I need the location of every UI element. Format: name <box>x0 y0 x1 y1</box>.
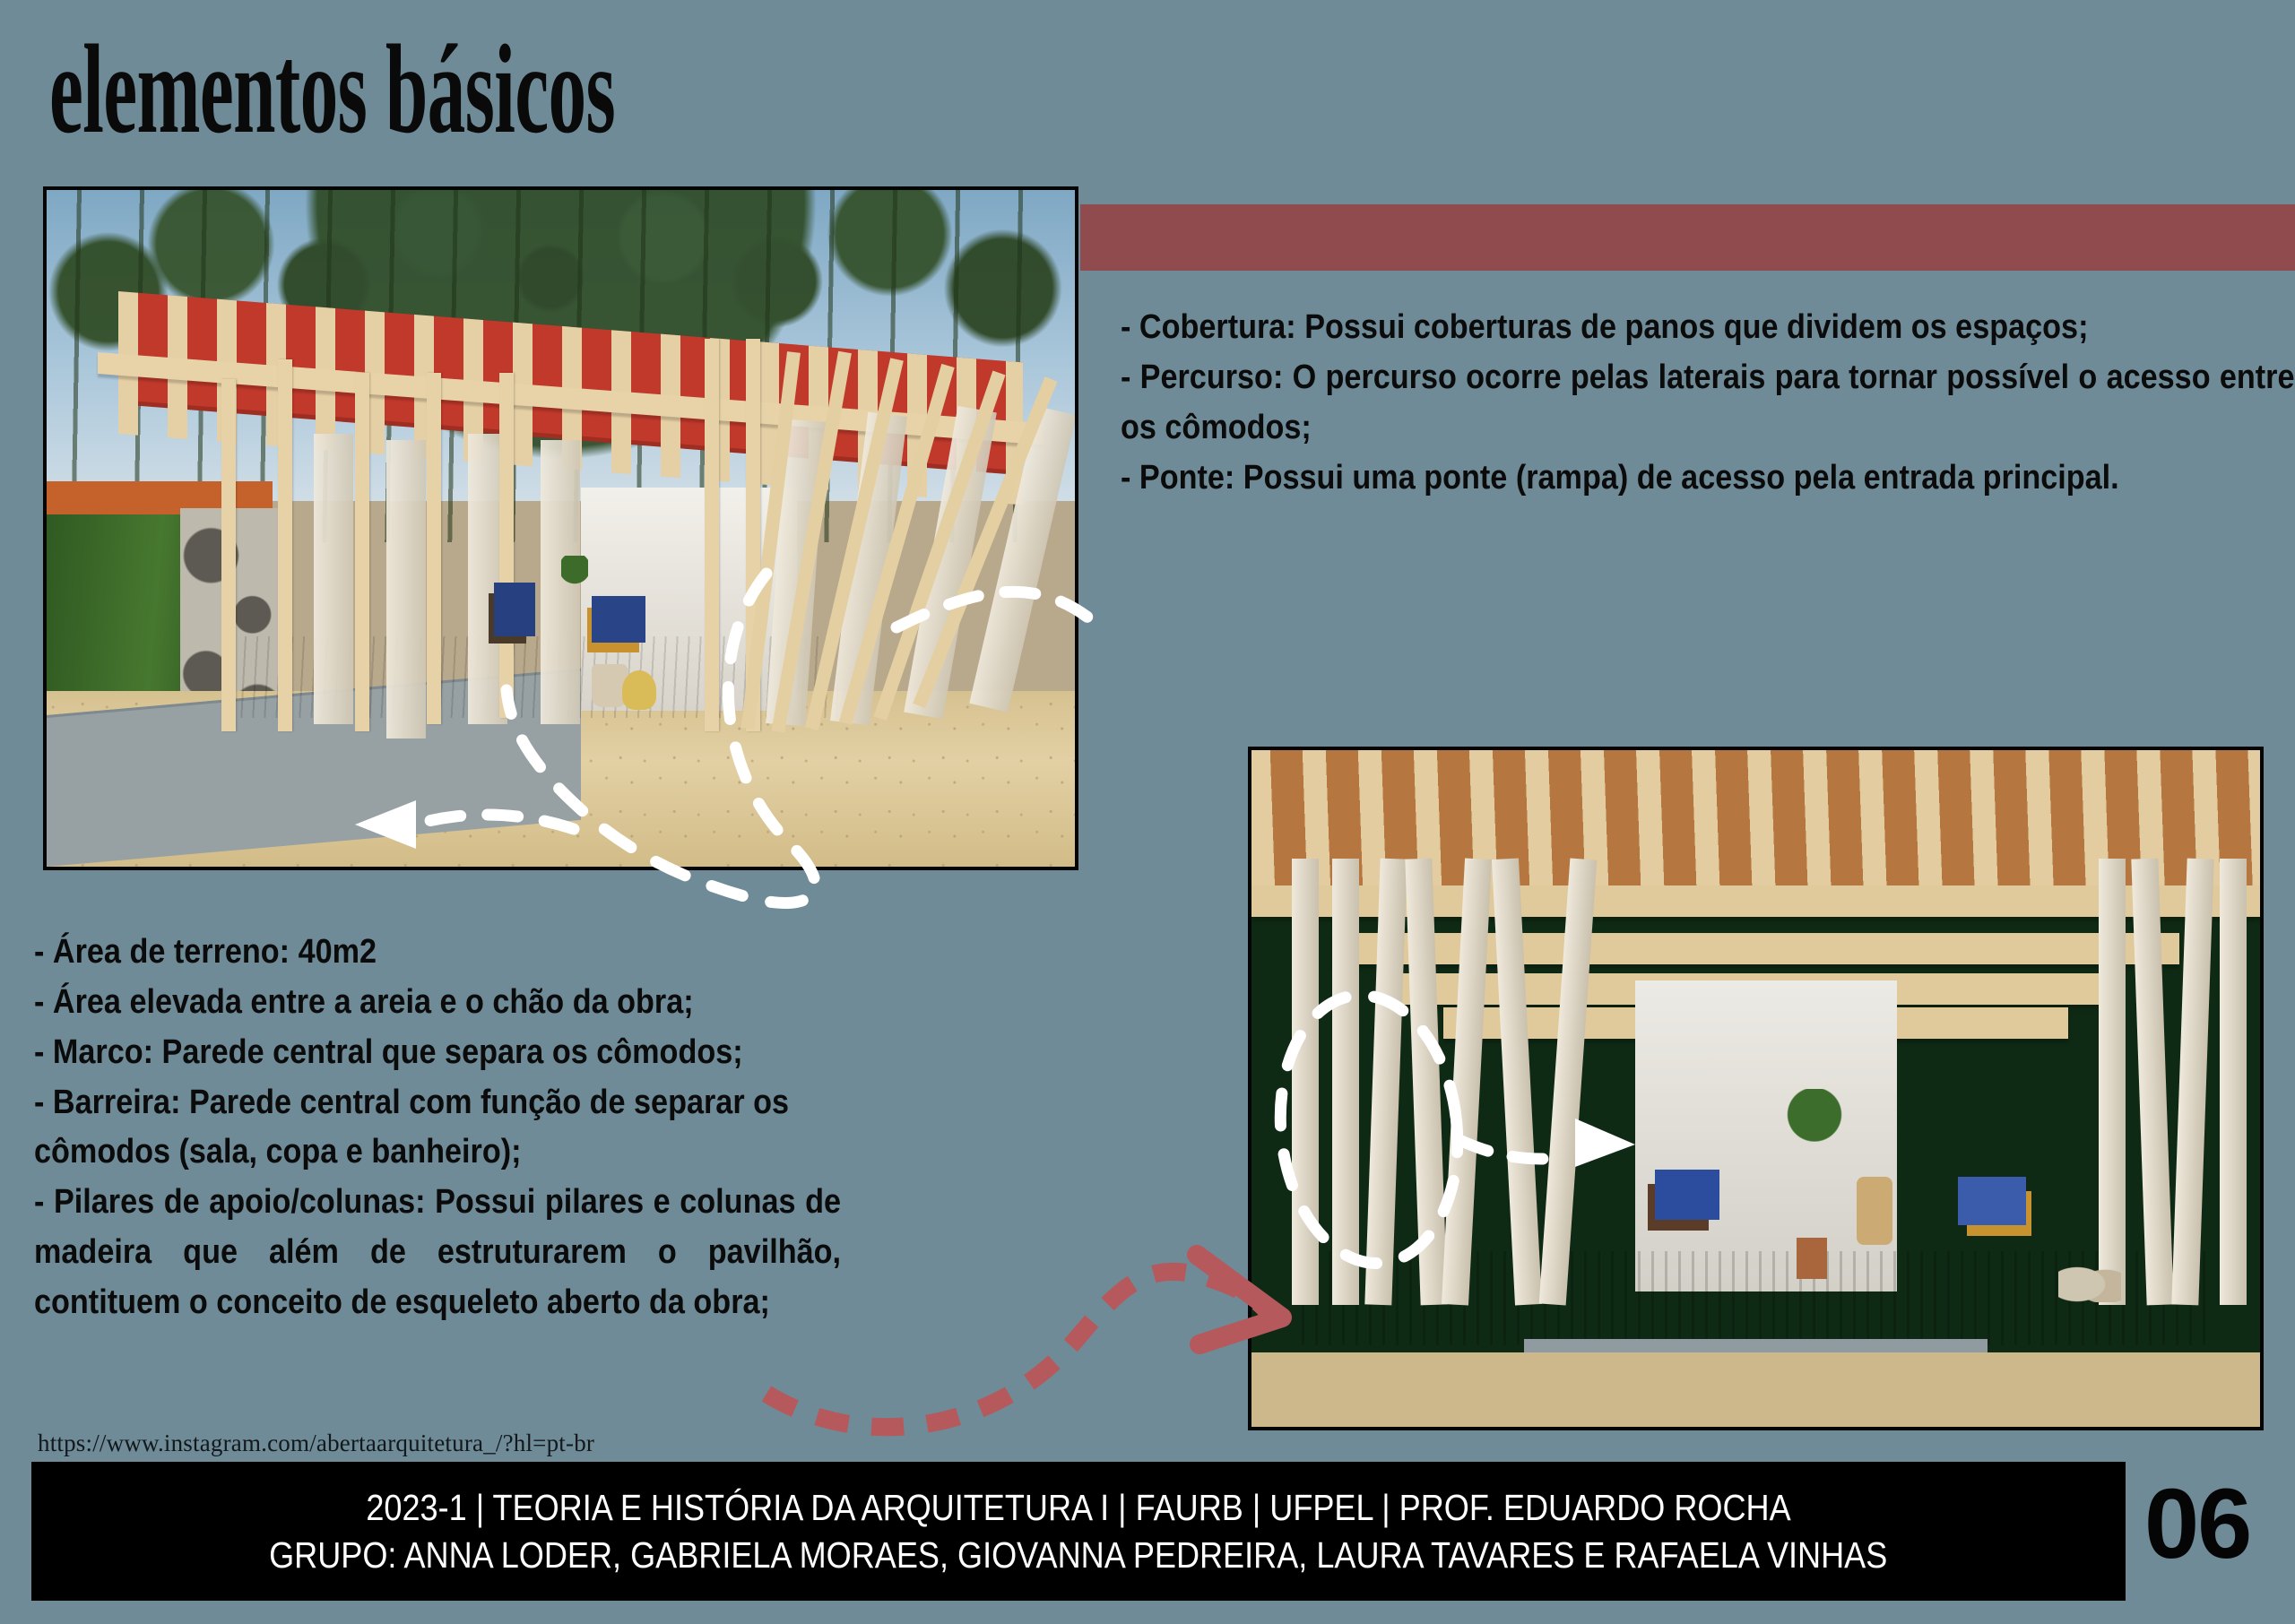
ceramic-jar-yellow <box>622 670 656 710</box>
structure-columns <box>47 190 1075 867</box>
ceramic-jars <box>2058 1257 2121 1302</box>
footer-bar: 2023-1 | TEORIA E HISTÓRIA DA ARQUITETUR… <box>31 1462 2126 1601</box>
blue-chair-left <box>1655 1170 1719 1220</box>
blue-chair-right <box>1958 1177 2026 1225</box>
pavilion-exterior-photo <box>43 186 1078 870</box>
photo-interior-content <box>1251 750 2260 1427</box>
red-dashed-curve-arrow <box>766 1272 1273 1427</box>
text-left-line-2: - Área elevada entre a areia e o chão da… <box>34 978 841 1028</box>
potted-plant <box>1786 1089 1843 1164</box>
description-text-left: - Área de terreno: 40m2 - Área elevada e… <box>34 928 841 1328</box>
footer-line-group: GRUPO: ANNA LODER, GABRIELA MORAES, GIOV… <box>269 1532 1887 1578</box>
footer-text-block: 2023-1 | TEORIA E HISTÓRIA DA ARQUITETUR… <box>31 1462 2126 1601</box>
page-title: elementos básicos <box>49 25 615 152</box>
text-right-line-3: - Ponte: Possui uma ponte (rampa) de ace… <box>1121 454 2295 504</box>
plant-pot <box>1797 1238 1827 1279</box>
text-right-line-2: - Percurso: O percurso ocorre pelas late… <box>1121 353 2295 454</box>
text-left-line-5: - Pilares de apoio/colunas: Possui pilar… <box>34 1178 841 1328</box>
white-dividing-wall <box>1635 980 1898 1291</box>
blue-chair-left <box>494 583 535 636</box>
blue-chair-right <box>592 596 645 643</box>
footer-line-course: 2023-1 | TEORIA E HISTÓRIA DA ARQUITETUR… <box>366 1484 1790 1531</box>
sand-ground <box>1251 1352 2260 1427</box>
source-url-text: https://www.instagram.com/abertaarquitet… <box>38 1430 594 1457</box>
text-right-line-1: - Cobertura: Possui coberturas de panos … <box>1121 303 2295 353</box>
pavilion-interior-photo <box>1248 747 2264 1430</box>
description-text-right: - Cobertura: Possui coberturas de panos … <box>1121 303 2295 503</box>
wooden-stump-sculpture <box>1857 1177 1892 1245</box>
red-accent-bar <box>1080 204 2295 271</box>
page-number: 06 <box>2144 1475 2250 1574</box>
text-left-line-3: - Marco: Parede central que separa os cô… <box>34 1028 841 1078</box>
text-left-line-1: - Área de terreno: 40m2 <box>34 928 841 978</box>
potted-plant <box>561 556 588 597</box>
text-left-line-4: - Barreira: Parede central com função de… <box>34 1078 841 1179</box>
photo-exterior-content <box>47 190 1075 867</box>
slide-canvas: elementos básicos <box>0 0 2295 1624</box>
